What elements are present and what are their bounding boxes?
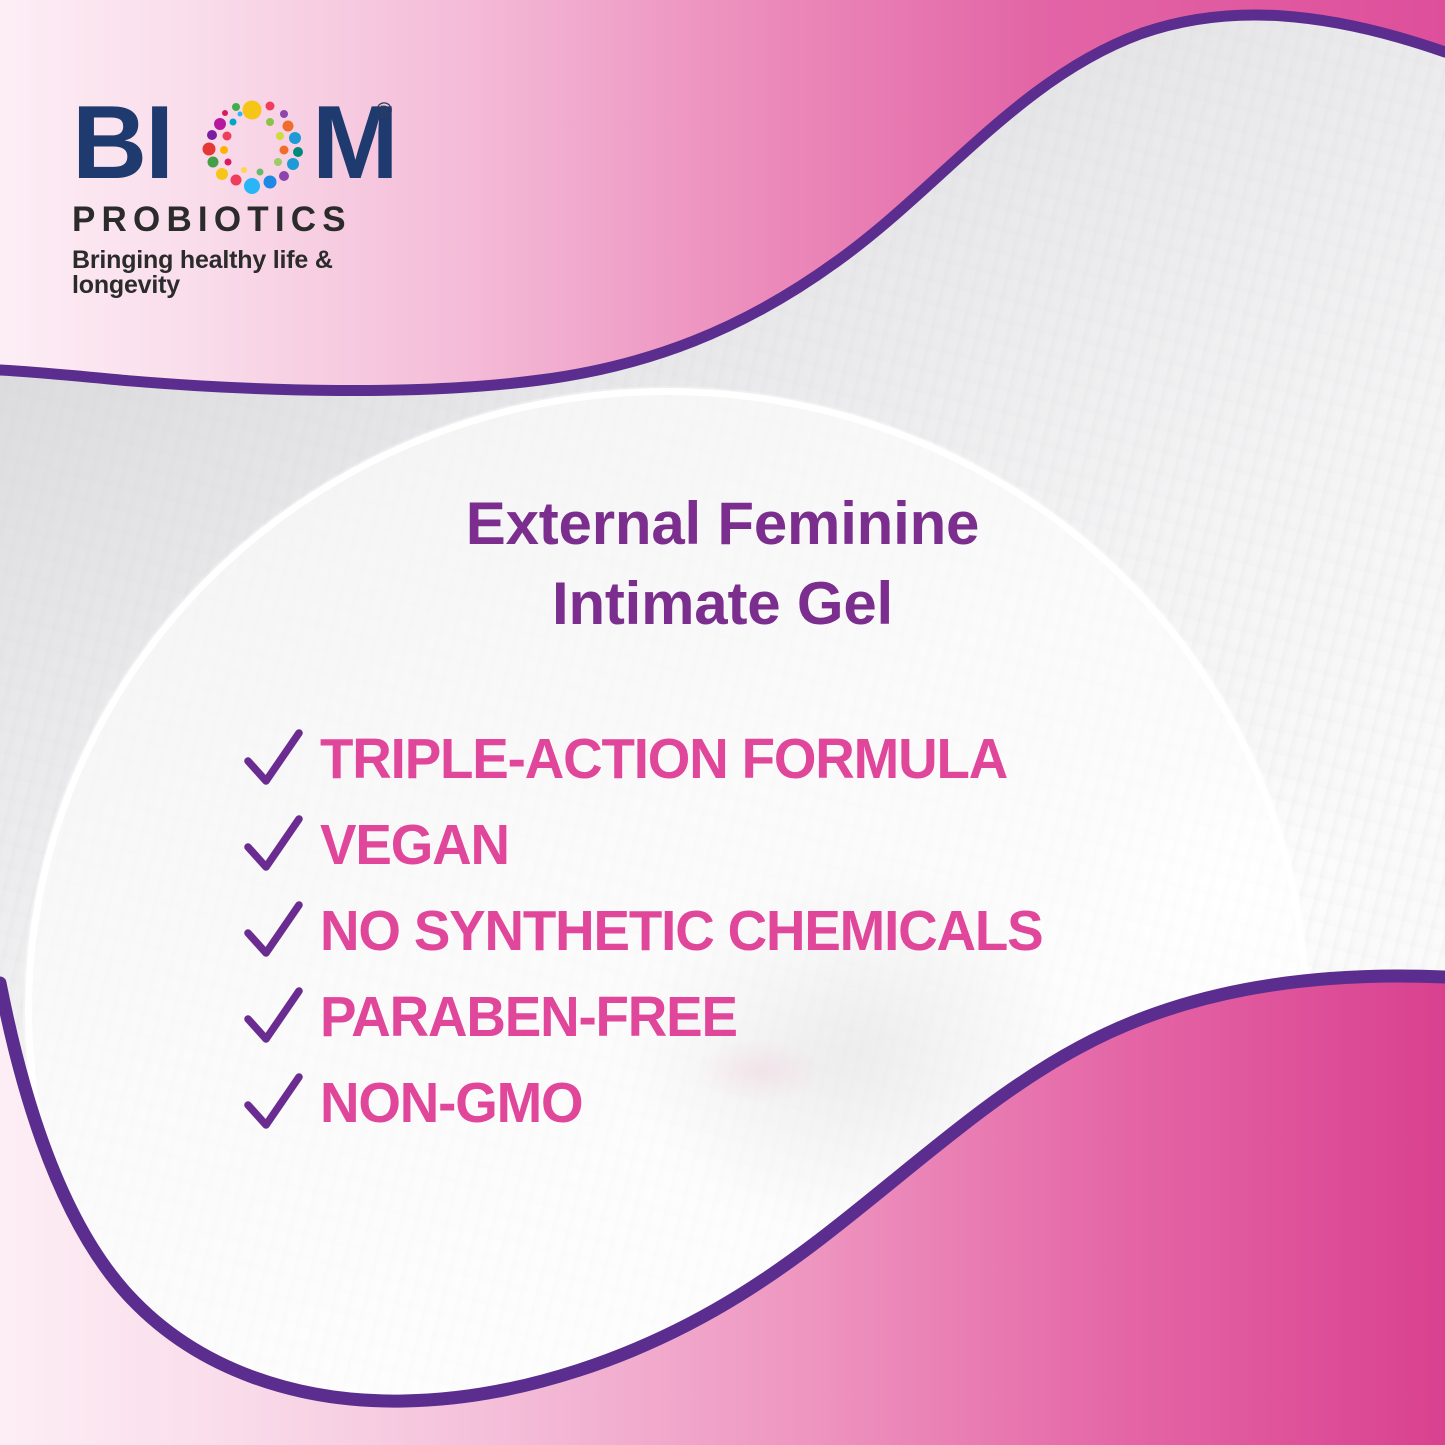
registered-trademark-icon: ®	[376, 98, 392, 124]
logo-subtitle: PROBIOTICS	[72, 202, 417, 237]
benefit-label: NON-GMO	[320, 1075, 582, 1132]
headline-line-2: Intimate Gel	[0, 564, 1445, 644]
benefit-label: VEGAN	[320, 817, 509, 874]
benefit-label: TRIPLE-ACTION FORMULA	[320, 731, 1007, 788]
checkmark-icon	[244, 1071, 304, 1135]
benefit-label: NO SYNTHETIC CHEMICALS	[320, 903, 1043, 960]
checkmark-icon	[244, 727, 304, 791]
page-title: External Feminine Intimate Gel	[0, 484, 1445, 644]
benefit-list: TRIPLE-ACTION FORMULA VEGAN NO SYNTHETIC…	[244, 716, 1304, 1146]
product-feature-graphic: BI	[0, 0, 1445, 1445]
benefit-label: PARABEN-FREE	[320, 989, 737, 1046]
biom-probiotics-logo: BI	[72, 96, 417, 298]
logo-wordmark: BI	[72, 96, 417, 194]
list-item: NON-GMO	[244, 1060, 1304, 1146]
checkmark-icon	[244, 899, 304, 963]
logo-tagline: Bringing healthy life & longevity	[72, 248, 417, 298]
logo-text-bi: BI	[72, 96, 172, 192]
checkmark-icon	[244, 813, 304, 877]
list-item: TRIPLE-ACTION FORMULA	[244, 716, 1304, 802]
probiotic-dot-ring-icon	[200, 100, 304, 194]
checkmark-icon	[244, 985, 304, 1049]
list-item: NO SYNTHETIC CHEMICALS	[244, 888, 1304, 974]
list-item: VEGAN	[244, 802, 1304, 888]
list-item: PARABEN-FREE	[244, 974, 1304, 1060]
headline-line-1: External Feminine	[466, 490, 979, 557]
